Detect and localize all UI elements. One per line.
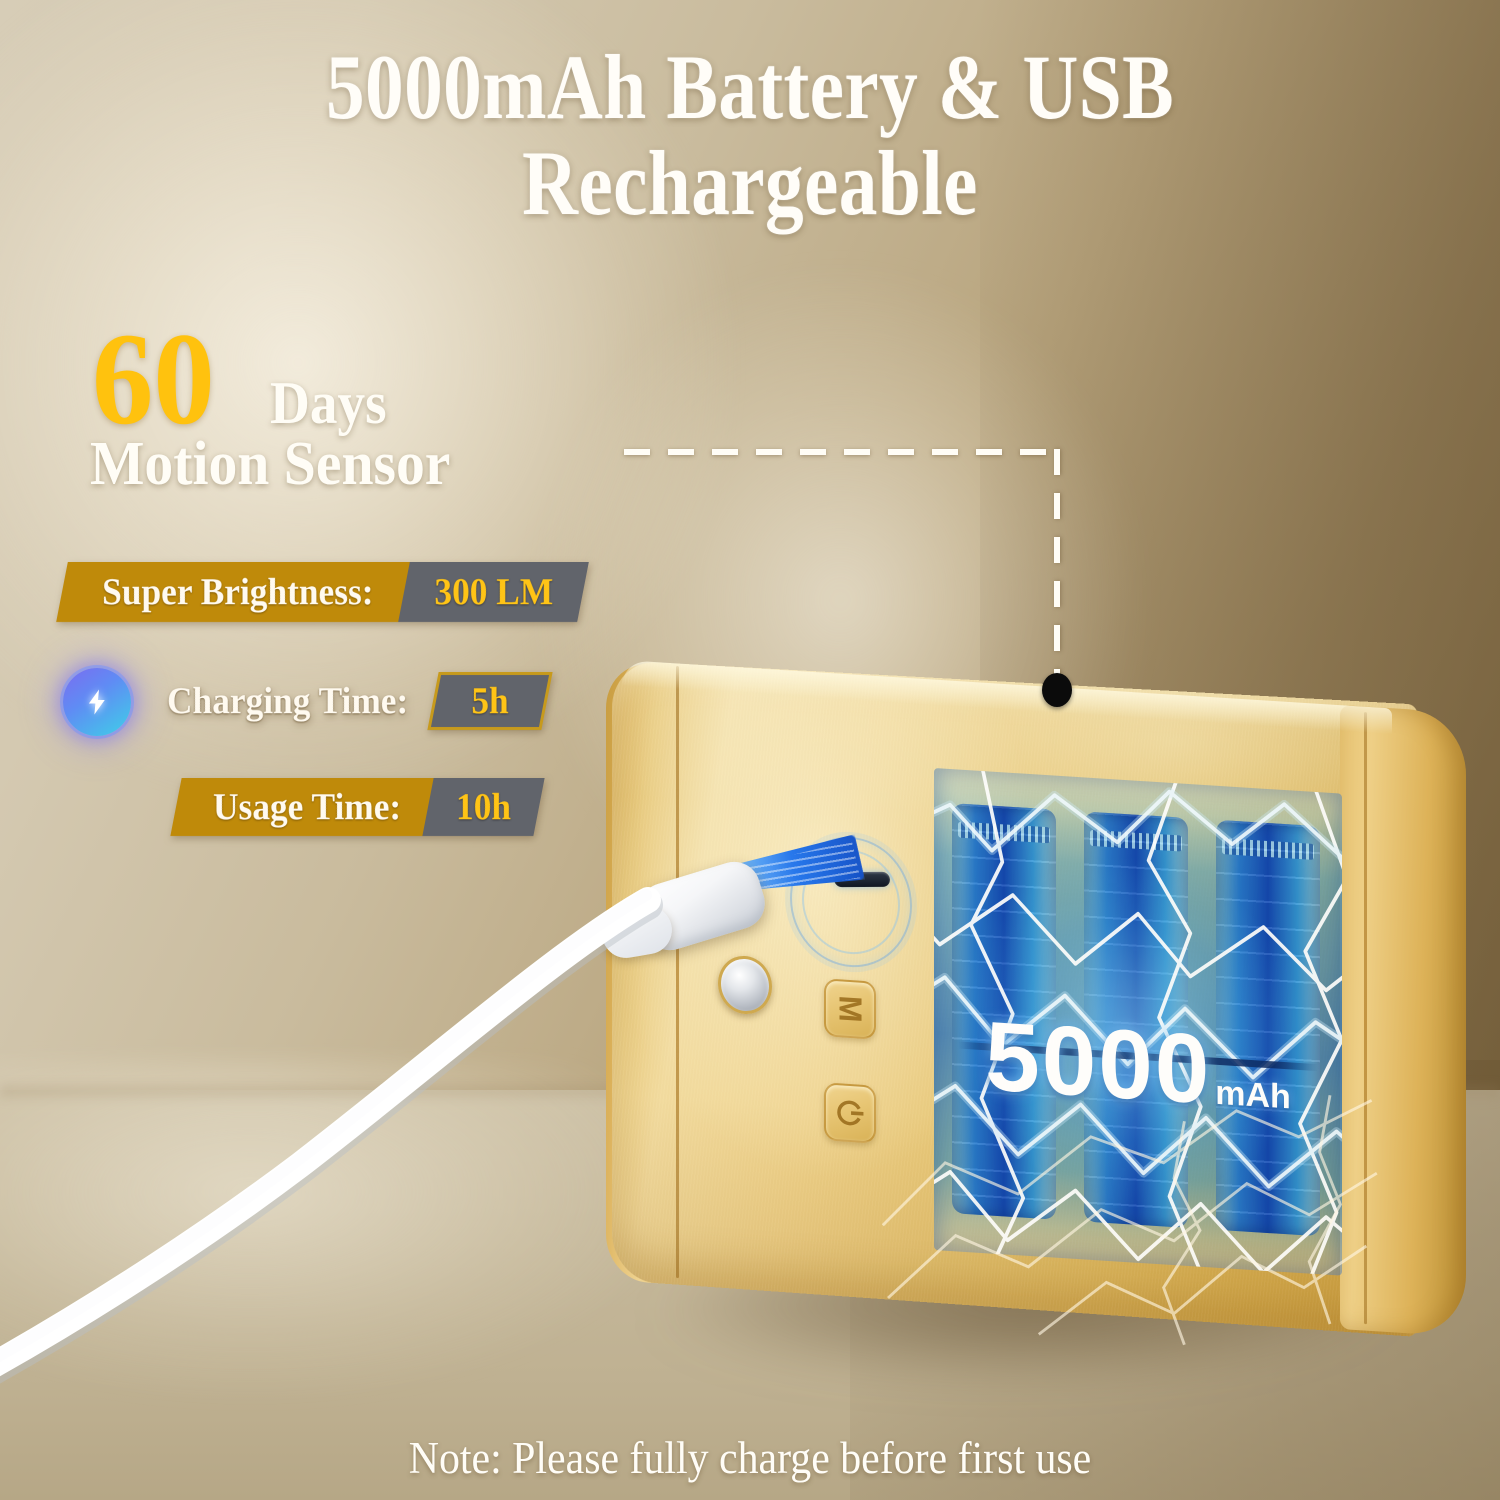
spec-label-usage-time: Usage Time: — [213, 785, 401, 829]
footer-note: Note: Please fully charge before first u… — [53, 1432, 1448, 1484]
spec-value-super-brightness: 300 LM — [434, 570, 553, 614]
callout-line-vertical — [1054, 449, 1060, 689]
motion-sensor-light-device: 5000mAh M ⏻ — [612, 660, 1472, 1360]
motion-sensor-label: Motion Sensor — [90, 429, 687, 500]
motion-sensor-days-unit: Days — [270, 369, 387, 438]
device-left-seam — [676, 666, 679, 1278]
lightning-bolt-glyph — [82, 687, 112, 717]
spec-row-super-brightness: Super Brightness: 300 LM — [56, 562, 589, 622]
spec-value-container: 10h — [423, 778, 545, 836]
spec-row-charging-time: Charging Time: 5h — [144, 672, 553, 730]
battery-glow — [934, 768, 1342, 1276]
spec-label-container: Usage Time: — [170, 778, 434, 836]
spec-label-charging-time: Charging Time: — [167, 679, 408, 723]
spec-value-usage-time: 10h — [456, 785, 511, 829]
spec-value-charging-time: 5h — [472, 679, 509, 723]
page-title: 5000mAh Battery & USB Rechargeable — [120, 40, 1380, 231]
spec-label-super-brightness: Super Brightness: — [102, 570, 373, 614]
spec-value-container: 300 LM — [398, 562, 589, 622]
spec-label-container: Super Brightness: — [56, 562, 409, 622]
power-button-glyph: ⏻ — [834, 1099, 866, 1126]
device-right-cap — [1340, 705, 1466, 1337]
motion-sensor-dot — [1042, 673, 1072, 707]
device-right-seam — [1364, 712, 1367, 1324]
product-infographic: 5000mAh Battery & USB Rechargeable 60 Da… — [0, 0, 1500, 1500]
lightning-bolt-icon — [63, 668, 131, 736]
motion-sensor-days-number: 60 — [92, 318, 215, 439]
spec-row-usage-time: Usage Time: 10h — [170, 778, 545, 836]
spec-label-container: Charging Time: — [144, 672, 439, 730]
mode-button-glyph: M — [834, 995, 866, 1024]
callout-line-horizontal — [624, 449, 1060, 455]
battery-graphic-window: 5000mAh — [934, 768, 1342, 1276]
power-button[interactable]: ⏻ — [824, 1082, 876, 1143]
spec-value-container: 5h — [428, 672, 553, 730]
mode-button[interactable]: M — [824, 978, 876, 1039]
motion-sensor-highlight: 60 Days Motion Sensor — [92, 318, 732, 500]
